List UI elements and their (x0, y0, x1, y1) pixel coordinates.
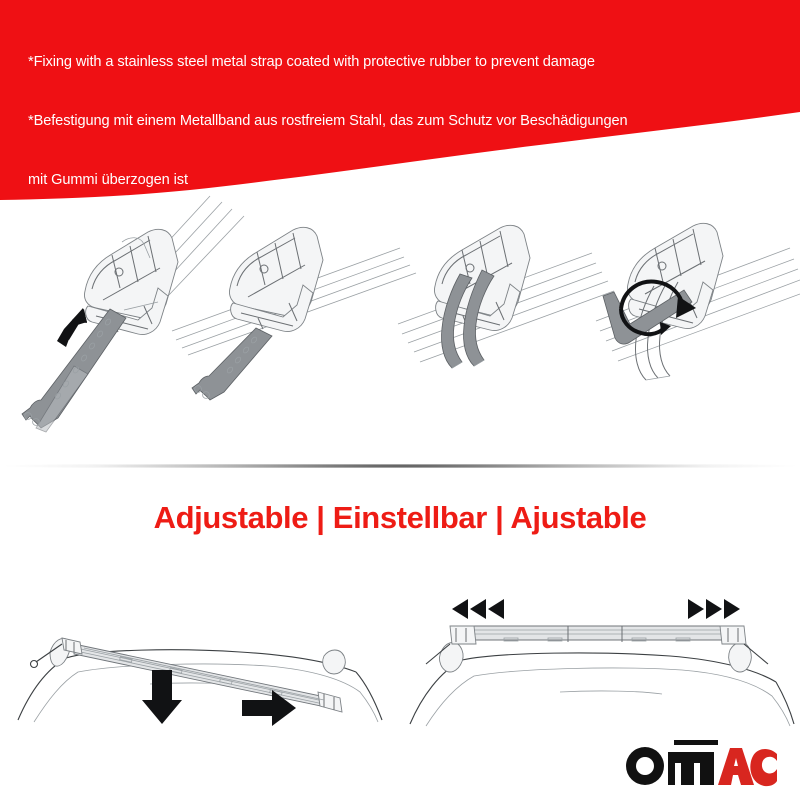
logo-letter-m (668, 752, 714, 785)
adjust-width-extend (400, 552, 800, 727)
logo-letter-a (718, 748, 754, 785)
step-4-tighten-allen-key (596, 223, 800, 380)
adjust-height-and-slide (0, 552, 400, 727)
omac-logo (618, 736, 778, 788)
adjust-height-drawing (0, 552, 400, 727)
banner-line-1: *Fixing with a stainless steel metal str… (28, 53, 788, 73)
roof-rail-pads-right (440, 643, 752, 673)
installation-steps-panel (0, 196, 800, 466)
triple-right-arrow-icon (688, 599, 740, 619)
adjustable-illustrations (0, 552, 800, 727)
logo-letter-o (626, 747, 664, 785)
logo-macron-bar (674, 740, 718, 745)
cross-bar-right (426, 626, 768, 664)
step-3-strap-wrapped (398, 225, 614, 368)
rack-foot-2 (229, 227, 323, 331)
page-title: Adjustable | Einstellbar | Ajustable (0, 500, 800, 536)
product-infographic-page: *Fixing with a stainless steel metal str… (0, 0, 800, 800)
cross-bar-left (31, 638, 343, 712)
banner-line-2: *Befestigung mit einem Metallband aus ro… (28, 112, 788, 132)
triple-left-arrow-icon (452, 599, 504, 619)
red-banner: *Fixing with a stainless steel metal str… (0, 0, 800, 200)
section-divider (0, 464, 800, 468)
rack-foot-1 (84, 229, 178, 334)
adjust-width-drawing (400, 552, 800, 727)
banner-line-3: mit Gummi überzogen ist (28, 171, 788, 191)
down-arrow-icon (142, 670, 182, 724)
installation-steps-drawing (0, 196, 800, 466)
logo-letter-c (750, 749, 777, 786)
insert-arrow-icon (55, 308, 87, 347)
omac-logo-mark (618, 736, 778, 788)
